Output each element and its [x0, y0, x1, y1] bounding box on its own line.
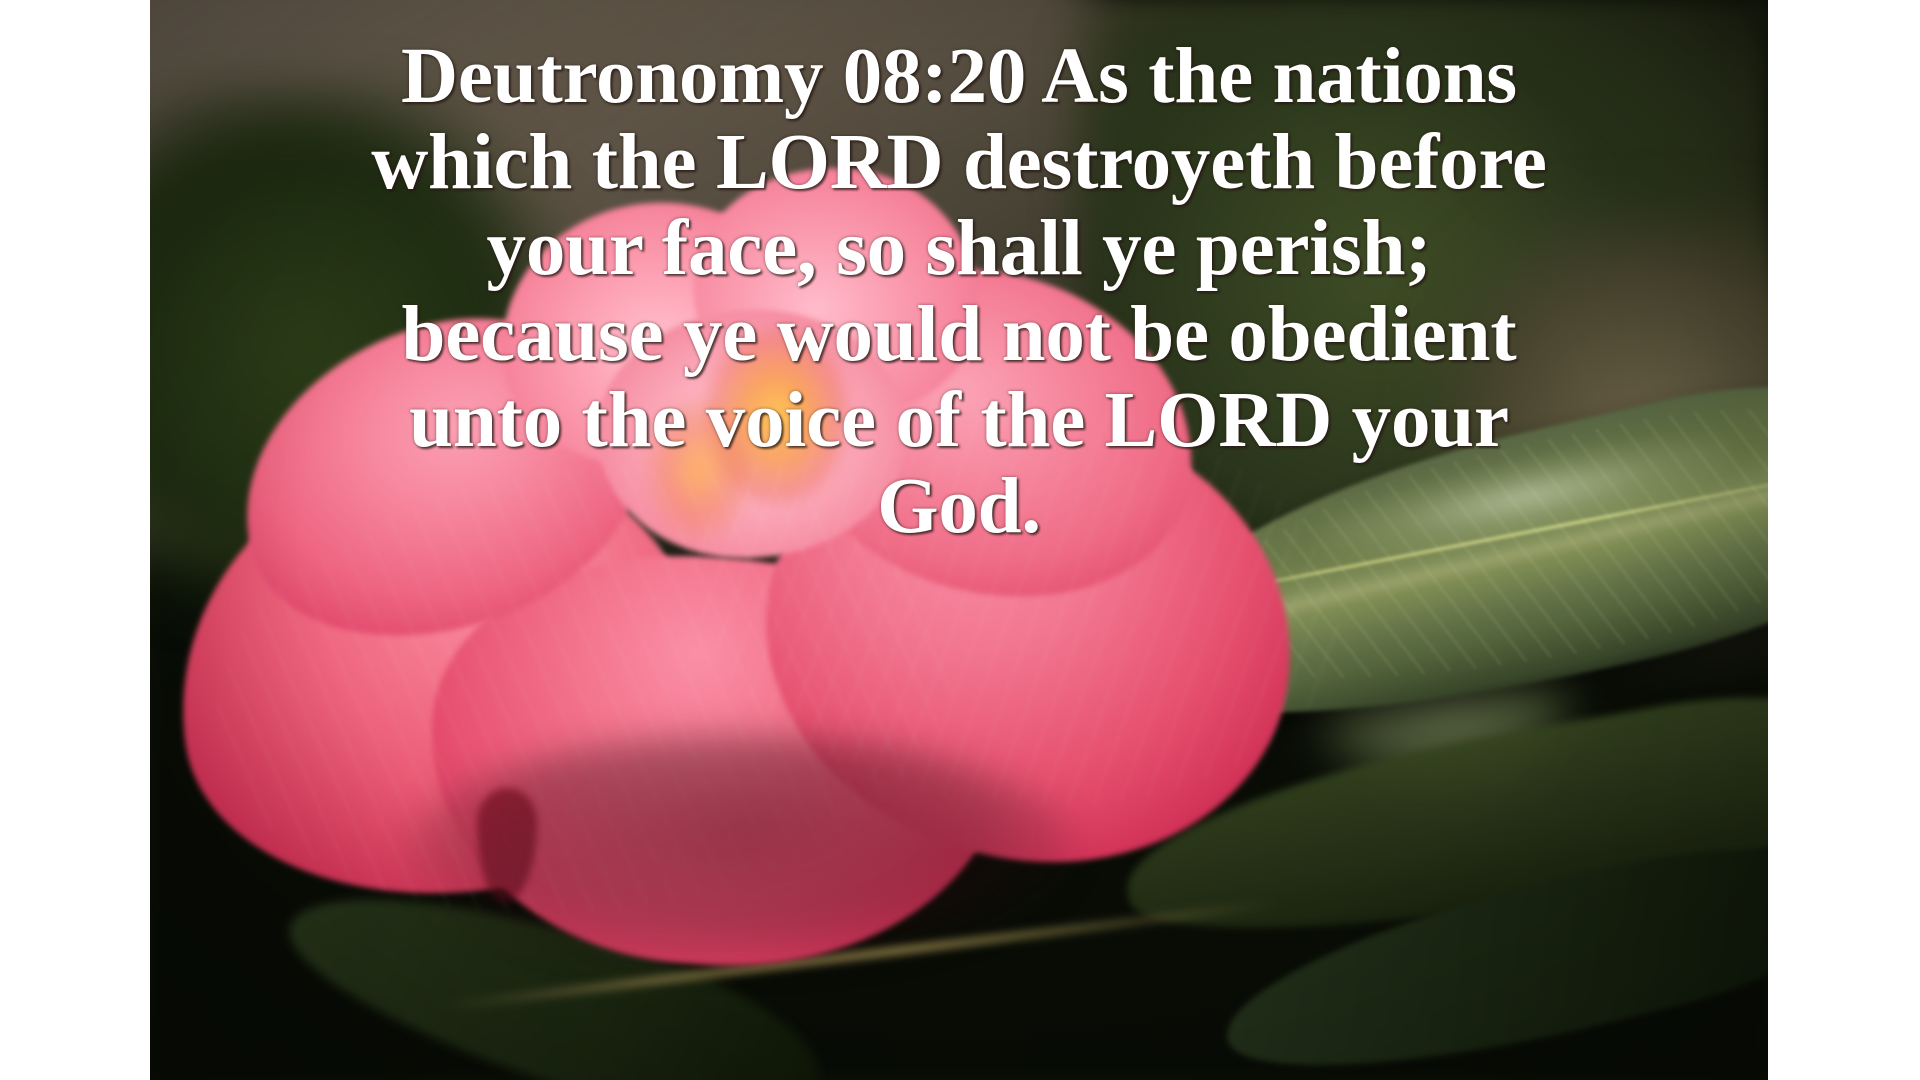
slide-canvas: Deutronomy 08:20 As the nations which th…: [0, 0, 1920, 1080]
blossom-underside-shadow: [406, 735, 1076, 965]
verse-background-photo: [150, 0, 1768, 1080]
camellia-blossom: [166, 97, 1363, 983]
